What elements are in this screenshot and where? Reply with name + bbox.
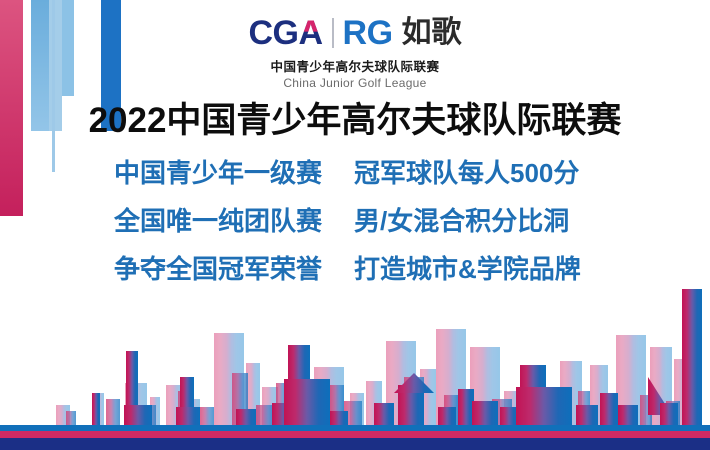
- cga-cg-text: CG: [248, 16, 298, 50]
- feature-line: 中国青少年一级赛 冠军球队每人500分: [0, 160, 710, 186]
- logo-chinese-name: 中国青少年高尔夫球队际联赛: [0, 56, 710, 75]
- logo-block: CGAA RG 如歌 中国青少年高尔夫球队际联赛 China Junior Go…: [0, 14, 710, 90]
- feature-left-text: 全国唯一纯团队赛: [106, 208, 354, 234]
- cga-a-letter: AA: [298, 16, 322, 50]
- feature-right-text: 男/女混合积分比洞: [354, 208, 604, 234]
- logo-english-name: China Junior Golf League: [0, 76, 710, 90]
- rg-logo: RG: [343, 16, 393, 50]
- feature-right-text: 冠军球队每人500分: [354, 160, 604, 186]
- bottom-stripe-navy: [0, 438, 710, 450]
- feature-left-text: 中国青少年一级赛: [106, 160, 354, 186]
- poster-canvas: CGAA RG 如歌 中国青少年高尔夫球队际联赛 China Junior Go…: [0, 0, 710, 450]
- logo-divider: [332, 18, 334, 48]
- ruge-logo: 如歌: [402, 18, 462, 48]
- cga-logo: CGAA: [248, 16, 322, 50]
- skyline-antenna-lines: [118, 305, 608, 355]
- feature-line: 全国唯一纯团队赛 男/女混合积分比洞: [0, 208, 710, 234]
- city-skyline-graphic: [0, 265, 710, 425]
- logo-wordmark-row: CGAA RG 如歌: [0, 14, 710, 52]
- page-title: 2022中国青少年高尔夫球队际联赛: [0, 92, 710, 143]
- bottom-stripe-pink: [0, 431, 710, 438]
